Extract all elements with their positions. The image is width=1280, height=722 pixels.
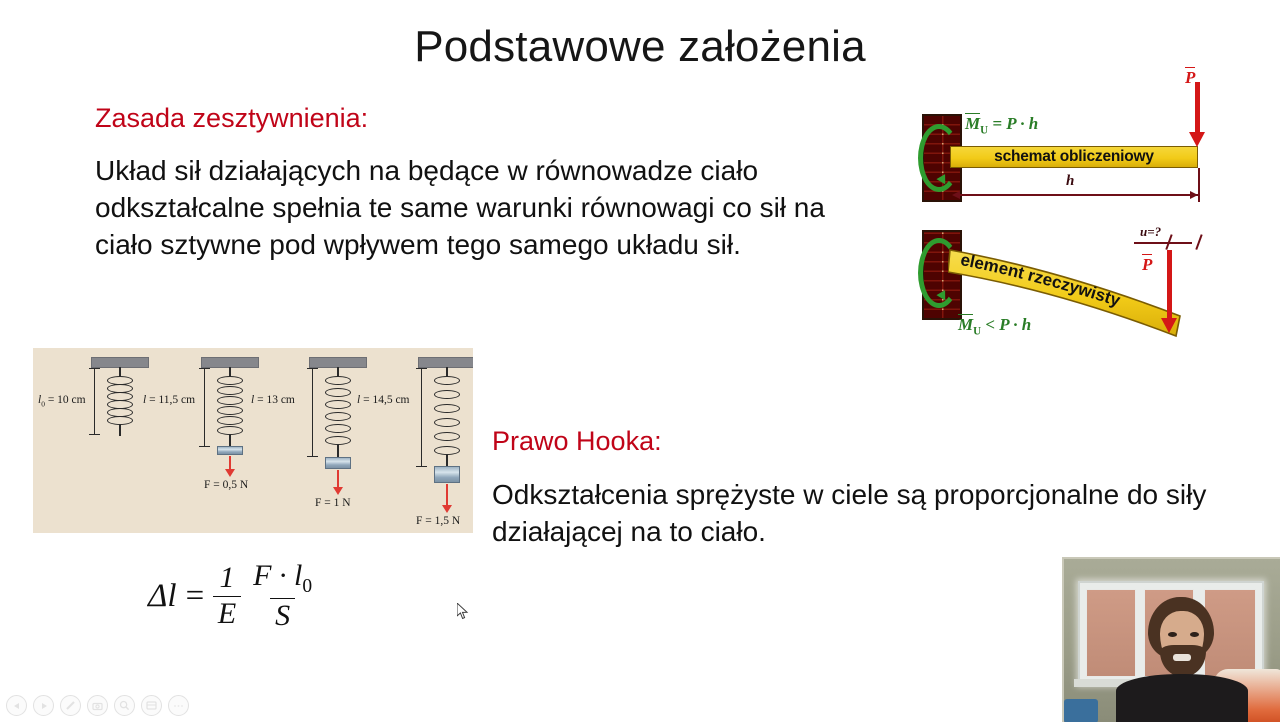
spring-coil: [107, 416, 133, 425]
spring-coil: [434, 418, 460, 427]
dimension-cap-bottom: [416, 466, 427, 467]
spring-force-label-2: F = 0,5 N: [204, 479, 248, 491]
displacement-label: u=?: [1140, 224, 1161, 240]
load-arrow-head-bottom: [1161, 318, 1177, 333]
formula-frac1-denominator: E: [213, 596, 241, 630]
h-dimension-label: h: [1066, 173, 1074, 190]
screenshot-button[interactable]: [87, 695, 108, 716]
spring-coil: [325, 424, 351, 433]
h-dimension-line: [958, 194, 1198, 196]
slides-icon: [146, 701, 157, 710]
load-label-bottom: P: [1142, 255, 1152, 275]
length-dimension-line: [421, 368, 422, 466]
zoom-button[interactable]: [114, 695, 135, 716]
load-arrow-head-top: [1189, 132, 1205, 147]
spring-coil: [434, 432, 460, 441]
formula-lhs: Δl: [148, 578, 177, 615]
pen-icon: [65, 700, 76, 711]
dimension-cap-top: [199, 368, 210, 369]
hooke-law-formula: Δl = 1 E F · l0 S: [148, 560, 317, 632]
hanging-weight: [325, 457, 351, 469]
spring-coil: [217, 426, 243, 435]
webcam-person-body: [1116, 674, 1248, 722]
force-arrow-head: [442, 505, 452, 513]
spring-wire-bottom: [337, 445, 339, 457]
spring-coil: [434, 376, 460, 385]
dimension-cap-top: [89, 368, 100, 369]
slide-list-button[interactable]: [141, 695, 162, 716]
spring-coil: [434, 390, 460, 399]
spring-coil: [325, 388, 351, 397]
spring-length-label-2: l = 11,5 cm: [143, 394, 195, 406]
ellipsis-icon: [173, 704, 184, 708]
spring-coil: [325, 376, 351, 385]
spring-coil: [217, 386, 243, 395]
hooke-law-heading: Prawo Hooka:: [492, 426, 662, 457]
force-arrow-shaft: [337, 470, 339, 488]
presentation-toolbar[interactable]: [6, 695, 189, 716]
menu-button[interactable]: [168, 695, 189, 716]
webcam-window-blind: [1086, 589, 1136, 677]
load-arrow-shaft-bottom: [1167, 250, 1172, 320]
spring-length-label-4: l = 14,5 cm: [357, 394, 410, 406]
spring-coil: [434, 404, 460, 413]
dimension-cap-top: [307, 368, 318, 369]
h-dimension-arrow-right: [1190, 191, 1198, 199]
length-dimension-line: [312, 368, 313, 456]
spring-coil: [217, 406, 243, 415]
spring-coil: [325, 400, 351, 409]
moment-equation-top: MU = P · h: [965, 114, 1038, 136]
beam-end-vertical-line: [1198, 168, 1200, 202]
spring-force-label-4: F = 1,5 N: [416, 515, 460, 527]
formula-equals: =: [184, 578, 206, 615]
hooke-law-body: Odkształcenia sprężyste w ciele są propo…: [492, 476, 1267, 550]
dimension-cap-bottom: [89, 434, 100, 435]
spring-length-label-1: l0 = 10 cm: [38, 394, 86, 408]
triangle-left-icon: [13, 702, 21, 710]
hanging-weight: [434, 466, 460, 483]
force-arrow-head: [225, 469, 235, 477]
spring-coil: [217, 416, 243, 425]
spring-length-label-3: l = 13 cm: [251, 394, 295, 406]
spring-coil: [217, 376, 243, 385]
spring-experiment-figure: l0 = 10 cm l = 11,5 cm F = 0: [33, 348, 473, 533]
length-dimension-line: [204, 368, 205, 446]
webcam-person-eye-left: [1168, 632, 1177, 637]
force-arrow-shaft: [446, 484, 448, 506]
pen-button[interactable]: [60, 695, 81, 716]
hanging-weight: [217, 446, 243, 455]
force-arrow-shaft: [229, 456, 231, 470]
page-title: Podstawowe założenia: [0, 22, 1280, 72]
dimension-cap-top: [416, 368, 427, 369]
webcam-person-eye-right: [1190, 632, 1199, 637]
mouse-cursor: [457, 603, 469, 620]
spring-wire-bottom: [446, 455, 448, 466]
webcam-presenter-overlay[interactable]: [1062, 557, 1280, 722]
length-dimension-line: [94, 368, 95, 434]
moment-equation-bottom: MU < P · h: [958, 315, 1031, 337]
svg-text:element rzeczywisty: element rzeczywisty: [959, 250, 1123, 310]
next-slide-button[interactable]: [33, 695, 54, 716]
h-dimension-arrow-left: [952, 191, 960, 199]
formula-frac2-numerator: F · l0: [248, 560, 317, 598]
spring-force-label-3: F = 1 N: [315, 497, 351, 509]
computational-scheme-beam: schemat obliczeniowy: [950, 146, 1198, 168]
spring-coil: [217, 396, 243, 405]
webcam-person-mouth: [1173, 654, 1191, 661]
beam-diagram-figure: MU = P · h schemat obliczeniowy P h: [912, 72, 1280, 370]
load-arrow-shaft-top: [1195, 82, 1200, 134]
load-label-top: P: [1185, 68, 1195, 88]
rigidity-principle-body: Układ sił działających na będące w równo…: [95, 152, 865, 263]
triangle-right-icon: [40, 702, 48, 710]
dimension-cap-bottom: [307, 456, 318, 457]
formula-fraction-one-over-e: 1 E: [213, 562, 241, 630]
magnifier-icon: [119, 700, 130, 711]
formula-fraction-fl0-over-s: F · l0 S: [248, 560, 317, 632]
force-arrow-head: [333, 487, 343, 495]
spring-coil: [325, 412, 351, 421]
spring-coil: [434, 446, 460, 455]
rigidity-principle-heading: Zasada zesztywnienia:: [95, 103, 368, 134]
formula-frac1-numerator: 1: [214, 562, 239, 595]
displacement-reference-line: [1134, 242, 1192, 244]
spring-coil: [325, 436, 351, 445]
spring-wire-bottom: [119, 425, 121, 436]
dimension-cap-bottom: [199, 446, 210, 447]
previous-slide-button[interactable]: [6, 695, 27, 716]
camera-icon: [92, 701, 103, 711]
formula-frac2-denominator: S: [270, 598, 295, 632]
webcam-chair: [1064, 699, 1098, 722]
slide-canvas: Podstawowe założenia Zasada zesztywnieni…: [0, 0, 1280, 720]
